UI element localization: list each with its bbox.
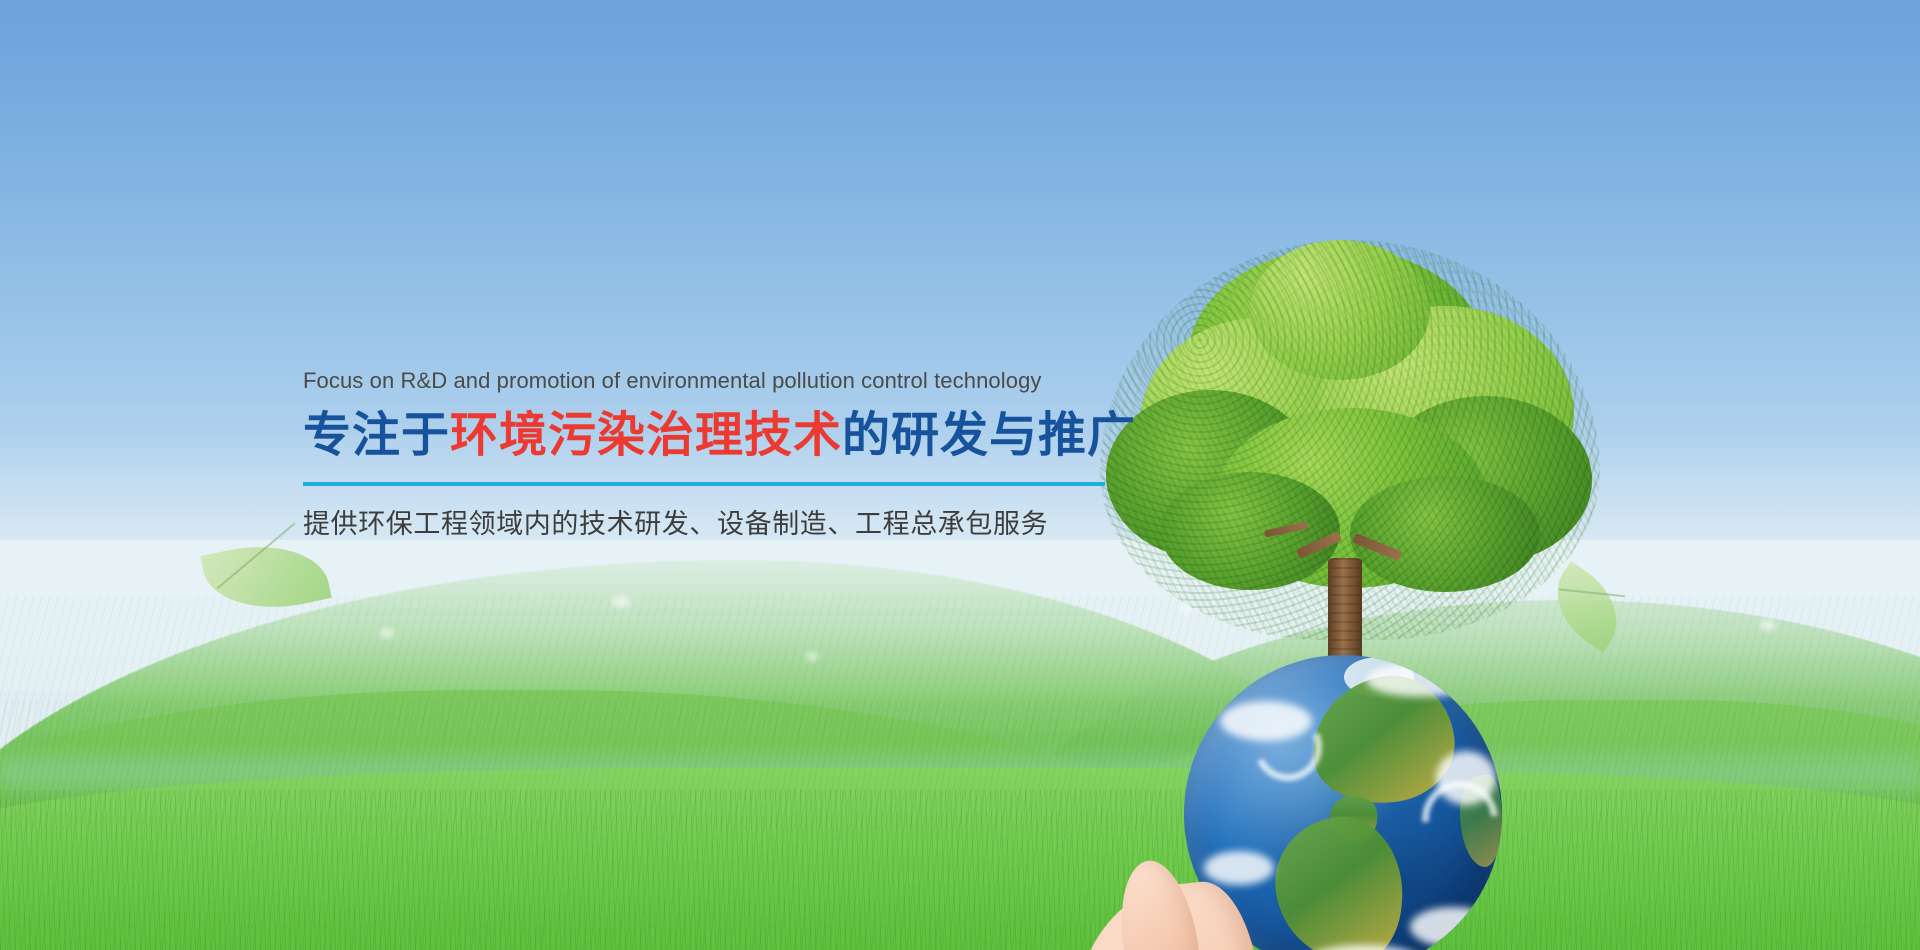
- banner-eyebrow-text: Focus on R&D and promotion of environmen…: [303, 366, 1103, 396]
- banner-headline: 专注于环境污染治理技术的研发与推广: [303, 406, 1103, 466]
- canopy-blob: [1160, 472, 1340, 590]
- headline-tail: 的研发与推广: [842, 409, 1136, 462]
- headline-highlight: 环境污染治理技术: [450, 409, 842, 462]
- headline-divider-rule: [303, 482, 1105, 486]
- globe-cloud: [1366, 663, 1476, 697]
- canopy-blob: [1250, 240, 1430, 380]
- tree-globe-hands-artwork: [1100, 240, 1660, 950]
- banner-copy: Focus on R&D and promotion of environmen…: [303, 366, 1103, 543]
- canopy-blob: [1350, 476, 1540, 592]
- cupped-hands: [1100, 800, 1660, 950]
- banner-subline-text: 提供环保工程领域内的技术研发、设备制造、工程总承包服务: [303, 505, 1103, 543]
- hero-banner: Focus on R&D and promotion of environmen…: [0, 0, 1920, 950]
- headline-lead: 专注于: [303, 409, 450, 462]
